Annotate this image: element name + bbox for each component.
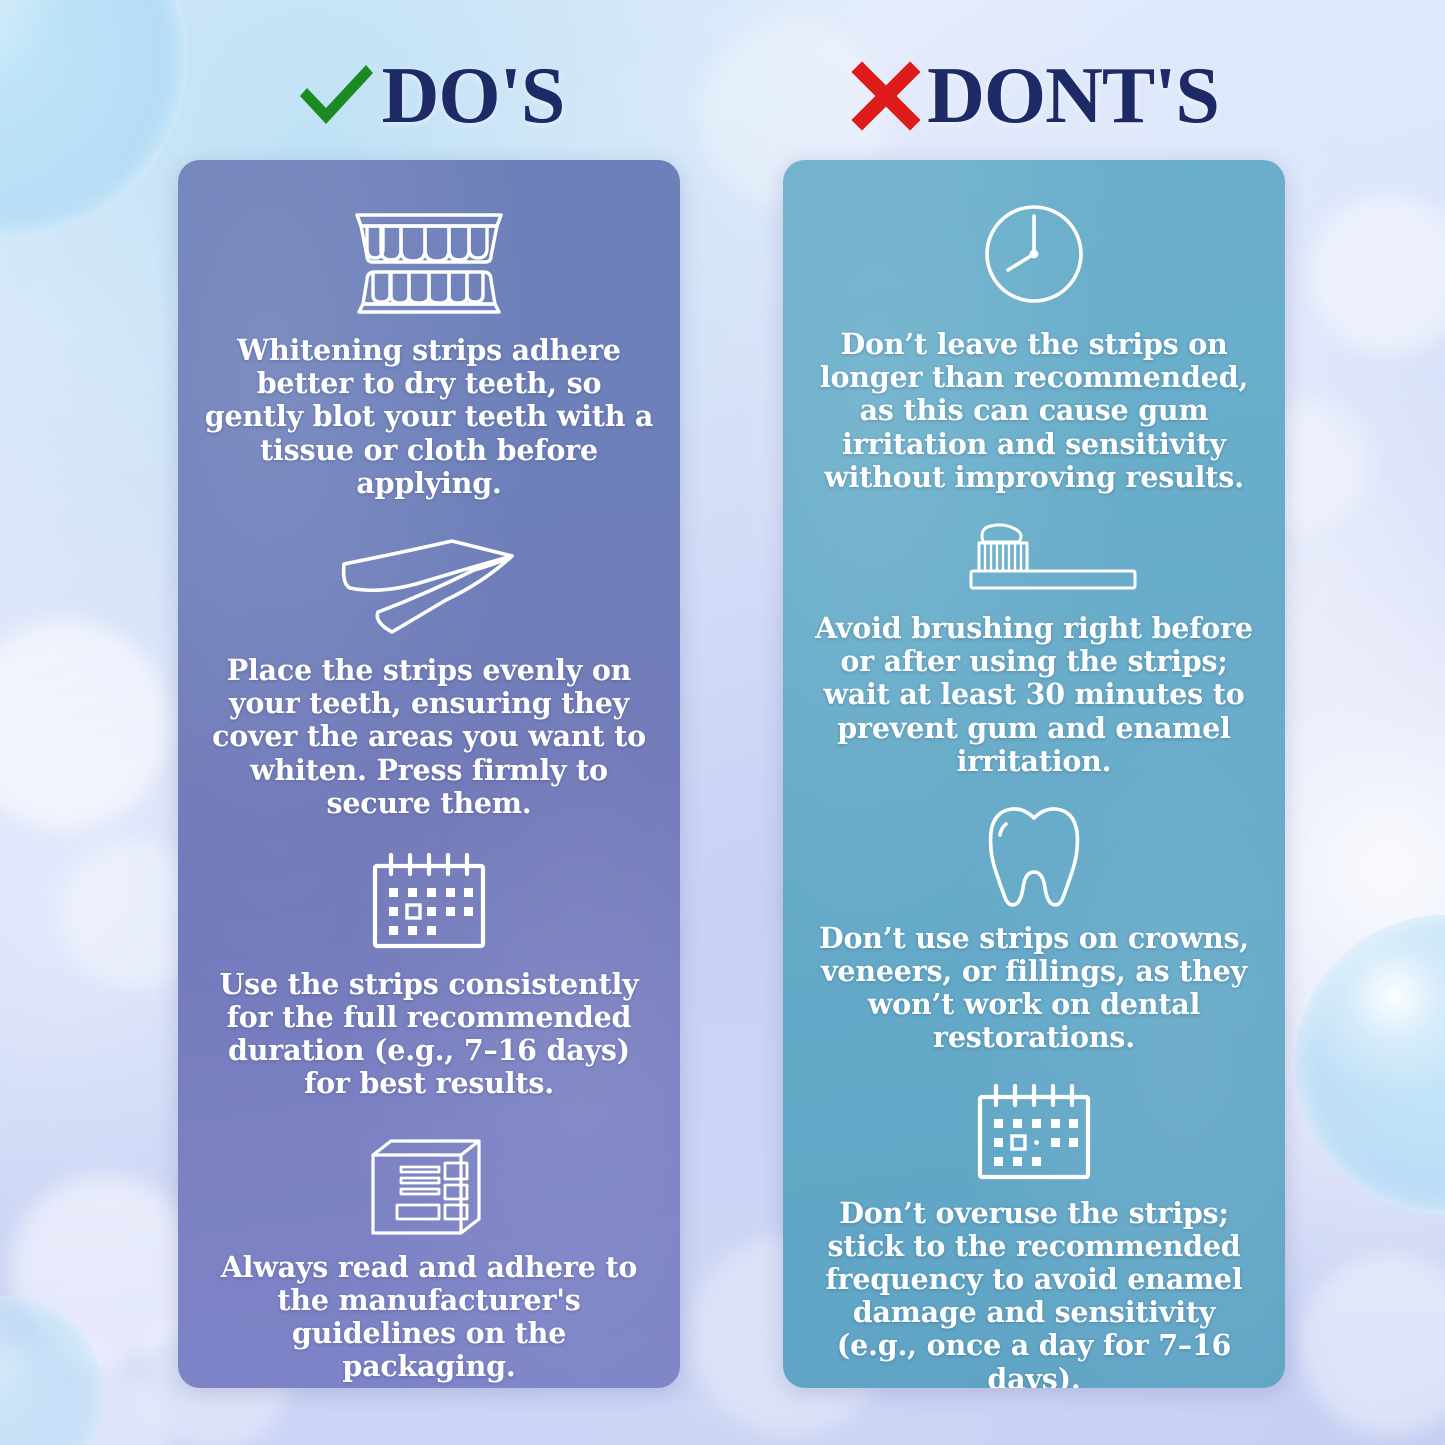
list-item: Don’t use strips on crowns, veneers, or … xyxy=(805,802,1263,1055)
list-item-text: Don’t overuse the strips; stick to the r… xyxy=(805,1197,1263,1388)
list-item-text: Don’t use strips on crowns, veneers, or … xyxy=(805,922,1263,1055)
list-item-text: Avoid brushing right before or after usi… xyxy=(805,612,1263,778)
header-dos: DO'S xyxy=(178,56,680,136)
calendar-icon xyxy=(970,1081,1098,1183)
list-item: Place the strips evenly on your teeth, e… xyxy=(200,536,658,820)
toothbrush-icon xyxy=(927,516,1141,598)
check-mark-icon xyxy=(294,58,378,134)
list-item: Don’t overuse the strips; stick to the r… xyxy=(805,1081,1263,1388)
list-item: Avoid brushing right before or after usi… xyxy=(805,516,1263,778)
page-title-dos: DO'S xyxy=(382,56,565,136)
list-item-text: Whitening strips adhere better to dry te… xyxy=(200,334,658,500)
list-item-text: Use the strips consistently for the full… xyxy=(200,968,658,1101)
clock-icon xyxy=(980,200,1088,308)
tooth-icon xyxy=(984,802,1084,910)
list-item: Use the strips consistently for the full… xyxy=(200,850,658,1101)
whitening-strip-icon xyxy=(334,536,524,640)
header-donts: DONT'S xyxy=(783,56,1285,136)
card-donts: Don’t leave the strips on longer than re… xyxy=(783,160,1285,1388)
list-item-text: Don’t leave the strips on longer than re… xyxy=(805,328,1263,494)
list-item-text: Place the strips evenly on your teeth, e… xyxy=(200,654,658,820)
column-headers: DO'S DONT'S xyxy=(0,56,1445,156)
infographic-page: DO'S DONT'S xyxy=(0,0,1445,1445)
list-item: Don’t leave the strips on longer than re… xyxy=(805,200,1263,494)
package-box-icon xyxy=(367,1135,491,1239)
list-item: Whitening strips adhere better to dry te… xyxy=(200,206,658,500)
cross-mark-icon xyxy=(849,59,923,133)
list-item-text: Always read and adhere to the manufactur… xyxy=(200,1251,658,1384)
page-title-donts: DONT'S xyxy=(927,56,1219,136)
card-dos: Whitening strips adhere better to dry te… xyxy=(178,160,680,1388)
list-item: Always read and adhere to the manufactur… xyxy=(200,1135,658,1384)
dos-list: Whitening strips adhere better to dry te… xyxy=(200,186,658,1383)
teeth-icon xyxy=(345,206,513,318)
calendar-icon xyxy=(365,850,493,952)
donts-list: Don’t leave the strips on longer than re… xyxy=(805,186,1263,1388)
